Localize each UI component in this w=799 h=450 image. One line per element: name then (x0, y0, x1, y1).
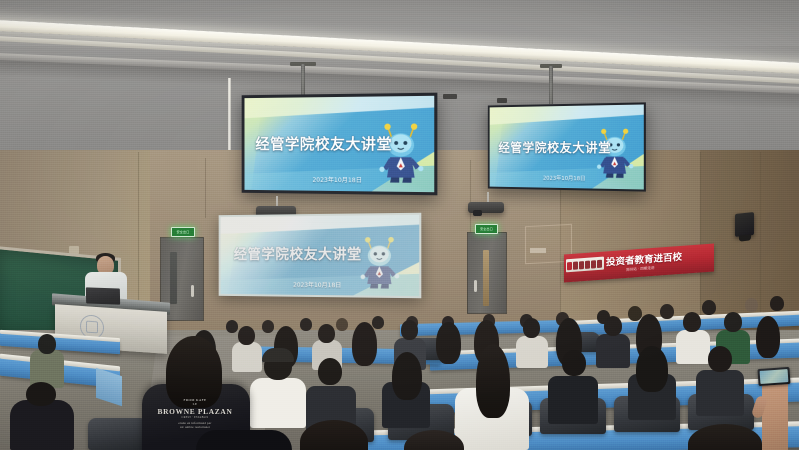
exit-sign-right: 安全出口 (475, 224, 498, 234)
exit-sign-left: 安全出口 (171, 227, 195, 237)
tv-left-slide: 经管学院校友大讲堂 2023年10月18日 (244, 96, 434, 192)
tv-right-slide: 经管学院校友大讲堂 2023年10月18日 (490, 104, 644, 189)
projection-screen-surface: 经管学院校友大讲堂 2023年10月18日 (221, 215, 420, 296)
projected-slide-title: 经管学院校友大讲堂 (234, 244, 362, 264)
banner-subline: 郑州站 · 四期走进 (626, 266, 655, 273)
projector-lens-right (473, 210, 482, 216)
tv-left-mount-arm (301, 64, 305, 96)
phone-screen (760, 369, 789, 384)
door-right-handle[interactable] (474, 280, 477, 292)
exit-sign-left-label: 安全出口 (177, 231, 190, 234)
wall-panel-seam-2 (205, 158, 206, 218)
wall-mounted-speaker (735, 212, 754, 237)
tshirt-line-2: LE (152, 402, 238, 406)
hand-holding-phone (762, 378, 788, 450)
tshirt-line-3: BROWNE PLAZAN (152, 407, 238, 416)
projected-slide: 经管学院校友大讲堂 2023年10月18日 (221, 215, 420, 296)
door-left-handle[interactable] (191, 285, 194, 297)
tshirt-line-6: air ombre realationet (152, 426, 238, 430)
tshirt-print: FROM KAFE LE BROWNE PLAZAN CREST · ESTAB… (152, 398, 238, 429)
tv-left-slide-title: 经管学院校友大讲堂 (255, 133, 392, 154)
door-right-glass (483, 250, 489, 306)
door-left-glass (170, 252, 177, 304)
laptop-on-podium (86, 287, 120, 304)
ceiling-upper-bulkhead (0, 0, 799, 46)
tv-left-screen: 经管学院校友大讲堂 2023年10月18日 (244, 96, 434, 192)
chair-back (88, 418, 148, 450)
ceiling-sensor-right (497, 98, 507, 103)
tv-right-mount-arm (549, 66, 553, 104)
sponsor-logo (566, 257, 604, 273)
smartphone-recording (757, 367, 790, 386)
tv-right-slide-title: 经管学院校友大讲堂 (498, 137, 611, 156)
beanie-cap (262, 348, 294, 362)
lecture-hall-photo: 安全出口 安全出口 投资者教育进百校 郑州站 · 四期走进 (0, 0, 799, 450)
slide-top-band-r (490, 104, 644, 124)
slide-top-band-p (221, 215, 420, 234)
wall-notice-label (530, 248, 546, 253)
banner-headline: 投资者教育进百校 (606, 249, 682, 269)
ceiling-sensor-left (443, 94, 457, 99)
tv-left: 经管学院校友大讲堂 2023年10月18日 (242, 93, 438, 196)
tv-right-screen: 经管学院校友大讲堂 2023年10月18日 (490, 104, 644, 189)
slide-top-band (244, 96, 434, 119)
tv-right: 经管学院校友大讲堂 2023年10月18日 (488, 102, 646, 191)
exit-sign-right-label: 安全出口 (480, 228, 493, 231)
tshirt-line-4: CREST · ESTABLIS (152, 416, 238, 419)
projection-screen: 经管学院校友大讲堂 2023年10月18日 (219, 213, 422, 299)
